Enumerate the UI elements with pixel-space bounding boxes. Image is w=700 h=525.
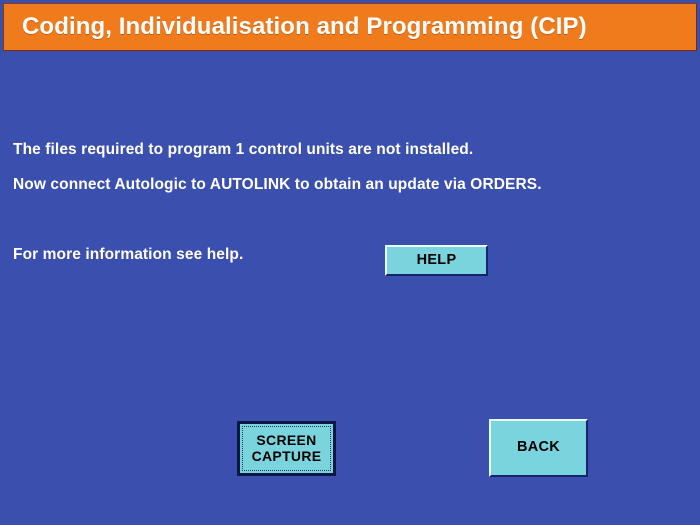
message-line-1: The files required to program 1 control … bbox=[13, 141, 473, 159]
message-line-2: Now connect Autologic to AUTOLINK to obt… bbox=[13, 176, 542, 194]
back-button-label: BACK bbox=[517, 440, 560, 456]
message-line-3: For more information see help. bbox=[13, 246, 243, 264]
screen-capture-button-label: SCREEN CAPTURE bbox=[252, 433, 322, 464]
help-button[interactable]: HELP bbox=[385, 245, 488, 276]
back-button[interactable]: BACK bbox=[489, 419, 588, 477]
screen-capture-label-line-2: CAPTURE bbox=[252, 449, 322, 464]
title-bar: Coding, Individualisation and Programmin… bbox=[3, 3, 697, 51]
help-button-label: HELP bbox=[417, 253, 457, 269]
screen-capture-label-line-1: SCREEN bbox=[252, 433, 322, 448]
screen-capture-button[interactable]: SCREEN CAPTURE bbox=[237, 421, 336, 476]
page-title: Coding, Individualisation and Programmin… bbox=[4, 13, 587, 41]
app-screen: Coding, Individualisation and Programmin… bbox=[0, 0, 700, 525]
